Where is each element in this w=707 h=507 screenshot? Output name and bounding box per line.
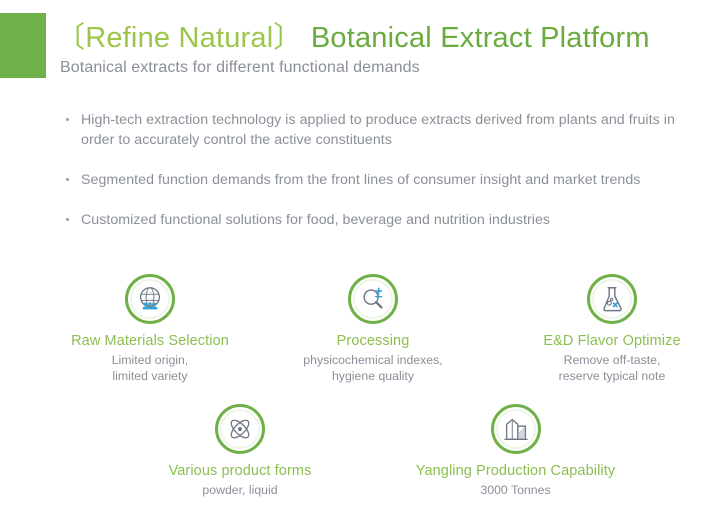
feature-icon-ring: [348, 274, 398, 324]
magnifier-plus-minus-icon: [358, 284, 388, 314]
feature-icon-ring: [491, 404, 541, 454]
feature-subtitle-line2: reserve typical note: [520, 368, 704, 384]
page-subtitle: Botanical extracts for different functio…: [60, 59, 420, 77]
brand-bracket-text: 〔Refine Natural〕: [56, 22, 303, 54]
feature-subtitle-line2: hygiene quality: [283, 368, 463, 384]
feature-title: Yangling Production Capability: [408, 463, 623, 479]
list-item: High-tech extraction technology is appli…: [63, 110, 683, 150]
page-title-main: Botanical Extract Platform: [311, 22, 650, 54]
feature-various-product-forms[interactable]: Various product forms powder, liquid: [150, 404, 330, 498]
feature-subtitle-line2: limited variety: [15, 368, 285, 384]
feature-title: E&D Flavor Optimize: [520, 333, 704, 349]
atom-icon: [225, 414, 255, 444]
feature-subtitle-line1: physicochemical indexes,: [283, 352, 463, 368]
factory-building-icon: [501, 414, 531, 444]
page-title: 〔Refine Natural〕 Botanical Extract Platf…: [56, 14, 650, 56]
feature-subtitle-line1: Limited origin,: [15, 352, 285, 368]
list-item: Segmented function demands from the fron…: [63, 170, 683, 190]
feature-icon-ring: [125, 274, 175, 324]
feature-title: Raw Materials Selection: [15, 333, 285, 349]
feature-ed-flavor-optimize[interactable]: E&D Flavor Optimize Remove off-taste, re…: [520, 274, 704, 384]
feature-subtitle-line1: powder, liquid: [150, 482, 330, 498]
feature-icon-ring: [587, 274, 637, 324]
feature-raw-materials-selection[interactable]: Raw Materials Selection Limited origin, …: [15, 274, 285, 384]
bullet-list: High-tech extraction technology is appli…: [63, 110, 683, 250]
flask-icon: [597, 284, 627, 314]
feature-title: Processing: [283, 333, 463, 349]
globe-people-icon: [135, 284, 165, 314]
feature-icon-ring: [215, 404, 265, 454]
feature-subtitle-line1: Remove off-taste,: [520, 352, 704, 368]
feature-processing[interactable]: Processing physicochemical indexes, hygi…: [283, 274, 463, 384]
feature-subtitle-line1: 3000 Tonnes: [408, 482, 623, 498]
header-accent-block: [0, 13, 46, 78]
feature-title: Various product forms: [150, 463, 330, 479]
list-item: Customized functional solutions for food…: [63, 210, 683, 230]
feature-yangling-production-capability[interactable]: Yangling Production Capability 3000 Tonn…: [408, 404, 623, 498]
slide-root: 〔Refine Natural〕 Botanical Extract Platf…: [0, 0, 707, 507]
